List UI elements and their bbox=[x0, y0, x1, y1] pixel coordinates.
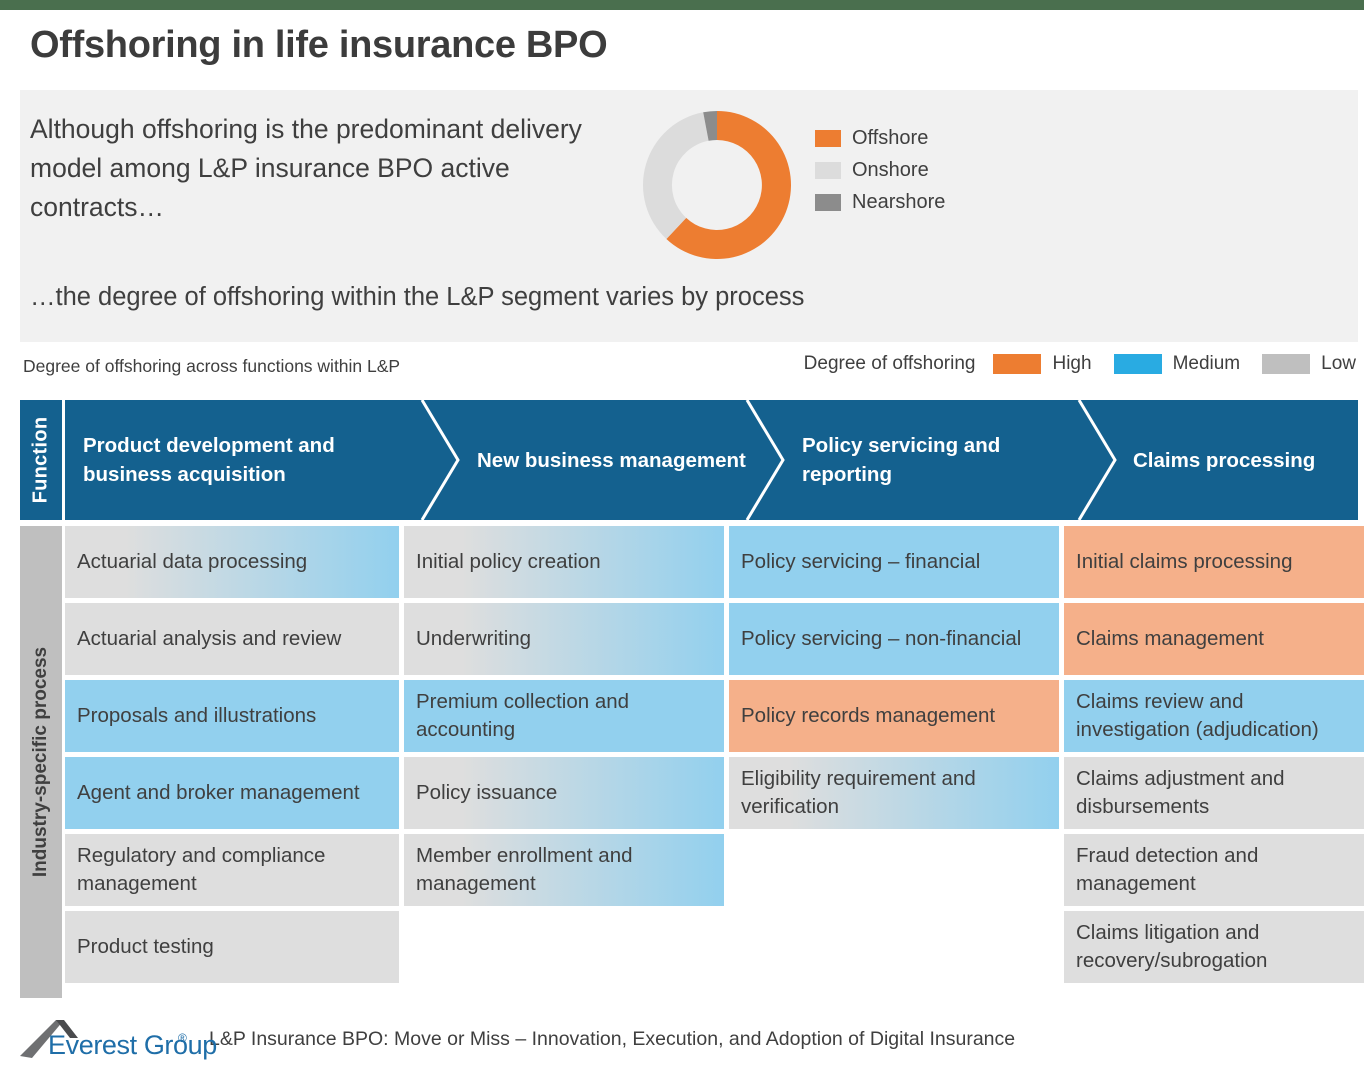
matrix-cell[interactable]: Policy servicing – non-financial bbox=[729, 603, 1059, 675]
nearshore-label: Nearshore bbox=[852, 191, 945, 214]
function-chevron-3[interactable]: Policy servicing and reporting bbox=[802, 400, 1092, 520]
matrix-cell[interactable]: Member enrollment and management bbox=[404, 834, 724, 906]
page-title: Offshoring in life insurance BPO bbox=[30, 22, 607, 68]
function-chevron-3-label: Policy servicing and reporting bbox=[802, 431, 1092, 489]
nearshore-swatch-icon bbox=[815, 194, 841, 211]
offshore-swatch-icon bbox=[815, 130, 841, 147]
function-chevron-1-label: Product development and business acquisi… bbox=[83, 431, 413, 489]
function-axis-text: Function bbox=[30, 417, 53, 504]
matrix-cell[interactable]: Actuarial analysis and review bbox=[65, 603, 399, 675]
matrix-cell[interactable]: Claims management bbox=[1064, 603, 1364, 675]
matrix-cell[interactable]: Initial claims processing bbox=[1064, 526, 1364, 598]
matrix-cell[interactable]: Policy servicing – financial bbox=[729, 526, 1059, 598]
function-chevron-1[interactable]: Product development and business acquisi… bbox=[83, 400, 413, 520]
matrix-column-product-development: Actuarial data processing Actuarial anal… bbox=[65, 526, 399, 998]
onshore-label: Onshore bbox=[852, 159, 929, 182]
high-swatch-icon bbox=[993, 354, 1041, 374]
matrix-column-claims-processing: Initial claims processing Claims managem… bbox=[1064, 526, 1364, 998]
function-header-row: Function Product development and busines… bbox=[20, 400, 1358, 520]
degree-legend: Degree of offshoring High Medium Low bbox=[804, 353, 1356, 375]
function-chevron-bar: Product development and business acquisi… bbox=[65, 400, 1358, 520]
matrix-cell[interactable]: Regulatory and compliance management bbox=[65, 834, 399, 906]
matrix-cell[interactable]: Policy issuance bbox=[404, 757, 724, 829]
legend-label-high: High bbox=[1052, 353, 1091, 375]
matrix-column-policy-servicing: Policy servicing – financial Policy serv… bbox=[729, 526, 1059, 998]
slide: Offshoring in life insurance BPO Althoug… bbox=[0, 0, 1364, 1077]
matrix-cell-empty bbox=[729, 834, 1059, 906]
sub-headline: …the degree of offshoring within the L&P… bbox=[30, 280, 1330, 314]
matrix-column-new-business: Initial policy creation Underwriting Pre… bbox=[404, 526, 724, 998]
registered-trademark-icon: ® bbox=[178, 1031, 187, 1045]
legend-label-medium: Medium bbox=[1173, 353, 1241, 375]
intro-statement: Although offshoring is the predominant d… bbox=[30, 110, 630, 227]
offshore-label: Offshore bbox=[852, 127, 928, 150]
legend-item-low: Low bbox=[1262, 353, 1356, 375]
degree-legend-title: Degree of offshoring bbox=[804, 353, 976, 375]
donut-legend-item-onshore: Onshore bbox=[815, 154, 1035, 186]
matrix-cell[interactable]: Eligibility requirement and verification bbox=[729, 757, 1059, 829]
function-chevron-2-label: New business management bbox=[477, 446, 746, 475]
matrix-cell[interactable]: Claims review and investigation (adjudic… bbox=[1064, 680, 1364, 752]
function-chevron-2[interactable]: New business management bbox=[477, 400, 757, 520]
process-axis-label: Industry-specific process bbox=[20, 526, 62, 998]
function-chevron-4[interactable]: Claims processing bbox=[1133, 400, 1364, 520]
function-chevron-4-label: Claims processing bbox=[1133, 446, 1315, 475]
onshore-swatch-icon bbox=[815, 162, 841, 179]
legend-strip: Degree of offshoring across functions wi… bbox=[20, 350, 1358, 390]
intro-panel: Although offshoring is the predominant d… bbox=[20, 90, 1358, 342]
medium-swatch-icon bbox=[1114, 354, 1162, 374]
matrix-cell[interactable]: Initial policy creation bbox=[404, 526, 724, 598]
matrix-cell-empty bbox=[404, 911, 724, 983]
matrix-cell[interactable]: Product testing bbox=[65, 911, 399, 983]
source-report-title: L&P Insurance BPO: Move or Miss – Innova… bbox=[209, 1028, 1015, 1051]
matrix-cell[interactable]: Claims adjustment and disbursements bbox=[1064, 757, 1364, 829]
donut-svg bbox=[635, 100, 815, 270]
matrix-caption: Degree of offshoring across functions wi… bbox=[23, 356, 400, 377]
everest-group-logo: Everest Group ® bbox=[20, 1016, 195, 1062]
top-accent-rule bbox=[0, 0, 1364, 10]
donut-slice-onshore bbox=[643, 112, 709, 239]
matrix-cell[interactable]: Claims litigation and recovery/subrogati… bbox=[1064, 911, 1364, 983]
matrix-cell-empty bbox=[729, 911, 1059, 983]
everest-group-wordmark: Everest Group bbox=[48, 1030, 217, 1061]
delivery-model-donut-chart bbox=[635, 100, 815, 270]
footer: Everest Group ® L&P Insurance BPO: Move … bbox=[20, 1010, 1350, 1068]
donut-legend-item-nearshore: Nearshore bbox=[815, 186, 1035, 218]
matrix-cell[interactable]: Underwriting bbox=[404, 603, 724, 675]
legend-label-low: Low bbox=[1321, 353, 1356, 375]
function-axis-label: Function bbox=[20, 400, 62, 520]
matrix-cell[interactable]: Actuarial data processing bbox=[65, 526, 399, 598]
donut-legend-item-offshore: Offshore bbox=[815, 122, 1035, 154]
matrix-columns: Actuarial data processing Actuarial anal… bbox=[65, 526, 1364, 998]
process-axis-text: Industry-specific process bbox=[30, 647, 52, 877]
matrix-cell[interactable]: Premium collection and accounting bbox=[404, 680, 724, 752]
matrix-cell[interactable]: Fraud detection and management bbox=[1064, 834, 1364, 906]
legend-item-high: High bbox=[993, 353, 1091, 375]
matrix-cell[interactable]: Policy records management bbox=[729, 680, 1059, 752]
low-swatch-icon bbox=[1262, 354, 1310, 374]
chevron-separator-icon-1 bbox=[420, 400, 466, 520]
process-grid: Industry-specific process Actuarial data… bbox=[20, 526, 1358, 998]
legend-item-medium: Medium bbox=[1114, 353, 1241, 375]
donut-legend: Offshore Onshore Nearshore bbox=[815, 122, 1035, 218]
matrix-cell[interactable]: Agent and broker management bbox=[65, 757, 399, 829]
offshoring-matrix: Function Product development and busines… bbox=[20, 400, 1358, 998]
matrix-cell[interactable]: Proposals and illustrations bbox=[65, 680, 399, 752]
